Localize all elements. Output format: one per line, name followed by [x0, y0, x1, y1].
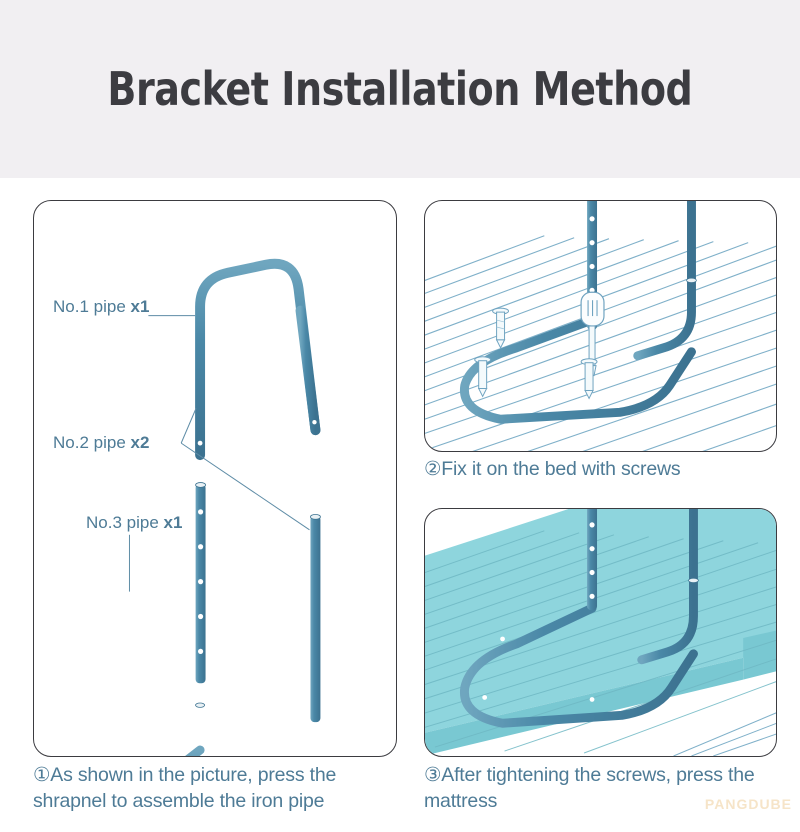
vertical-pipe-right	[638, 201, 697, 356]
no-3-pipe-shape	[106, 703, 318, 756]
caption-step-1: ①As shown in the picture, press the shra…	[33, 762, 413, 814]
leader-lines	[129, 316, 309, 592]
label-no-1-pipe: No.1 pipe x1	[53, 297, 149, 317]
exploded-parts-illustration	[34, 201, 396, 756]
no-2-pipe-left-shape	[196, 483, 206, 684]
caption-step-2: ②Fix it on the bed with screws	[424, 456, 784, 482]
panel-press-mattress	[424, 508, 777, 757]
bed-edge	[674, 697, 776, 756]
installation-guide-page: Bracket Installation Method	[0, 0, 800, 832]
bed-slats	[425, 236, 776, 451]
fix-with-screws-illustration	[425, 201, 776, 451]
page-title: Bracket Installation Method	[108, 62, 693, 116]
vertical-pipe-left	[587, 509, 597, 610]
press-mattress-illustration	[425, 509, 776, 756]
no-1-pipe-shape	[198, 264, 317, 455]
page-header: Bracket Installation Method	[0, 0, 800, 178]
panel-fix-with-screws	[424, 200, 777, 452]
brand-watermark: PANGDUBE	[705, 796, 792, 812]
label-no-3-pipe: No.3 pipe x1	[86, 513, 182, 533]
panel-exploded-parts: No.1 pipe x1 No.2 pipe x2 No.3 pipe x1	[33, 200, 397, 757]
label-no-2-pipe: No.2 pipe x2	[53, 433, 149, 453]
no-2-pipe-right-shape	[310, 514, 320, 722]
